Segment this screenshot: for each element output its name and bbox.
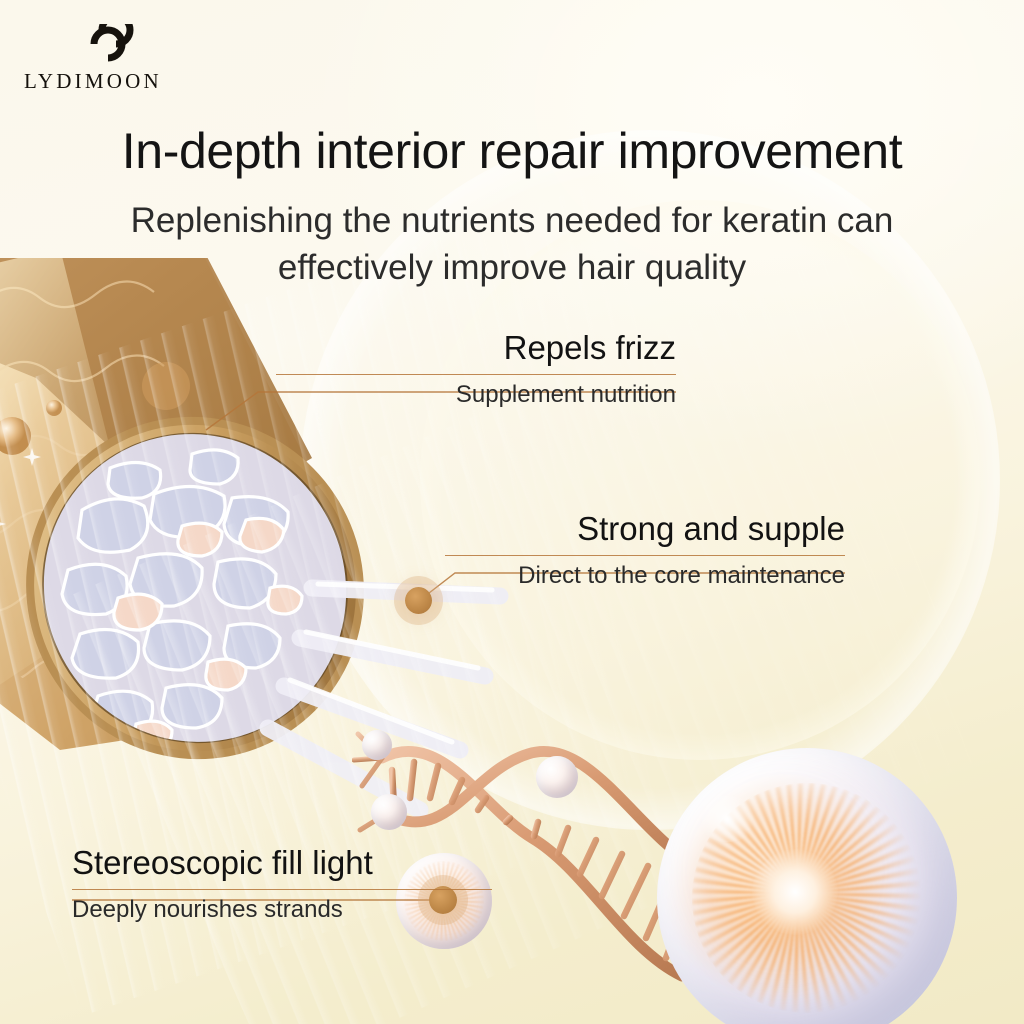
subtitle-line-2: effectively improve hair quality (0, 245, 1024, 292)
pearl-sphere-small-a (536, 756, 578, 798)
pearl-highlight (696, 796, 758, 842)
page-subtitle: Replenishing the nutrients needed for ke… (0, 198, 1024, 291)
callout-divider (72, 889, 492, 890)
callout-stereoscopic-fill-light[interactable]: Stereoscopic fill light Deeply nourishes… (72, 845, 492, 924)
interlocking-rings-icon (66, 24, 144, 64)
callout-divider (445, 555, 845, 556)
callout-title: Repels frizz (276, 330, 676, 367)
callout-subtitle: Deeply nourishes strands (72, 896, 492, 924)
pearl-sphere-small-c (371, 794, 407, 830)
brand-wordmark: LYDIMOON (24, 69, 224, 94)
callout-repels-frizz[interactable]: Repels frizz Supplement nutrition (276, 330, 676, 409)
callout-title: Strong and supple (445, 511, 845, 548)
brand-logo[interactable]: LYDIMOON (24, 24, 224, 94)
callout-subtitle: Direct to the core maintenance (445, 562, 845, 590)
subtitle-line-1: Replenishing the nutrients needed for ke… (0, 198, 1024, 245)
callout-strong-and-supple[interactable]: Strong and supple Direct to the core mai… (445, 511, 845, 590)
pearl-sphere-large (657, 748, 957, 1024)
leader-dot-2 (405, 587, 432, 614)
callout-title: Stereoscopic fill light (72, 845, 492, 882)
pearl-core-glow (752, 849, 838, 935)
page-title: In-depth interior repair improvement (0, 122, 1024, 180)
product-infographic: LYDIMOON In-depth interior repair improv… (0, 0, 1024, 1024)
callout-divider (276, 374, 676, 375)
pearl-sphere-small-b (362, 730, 392, 760)
callout-subtitle: Supplement nutrition (276, 381, 676, 409)
